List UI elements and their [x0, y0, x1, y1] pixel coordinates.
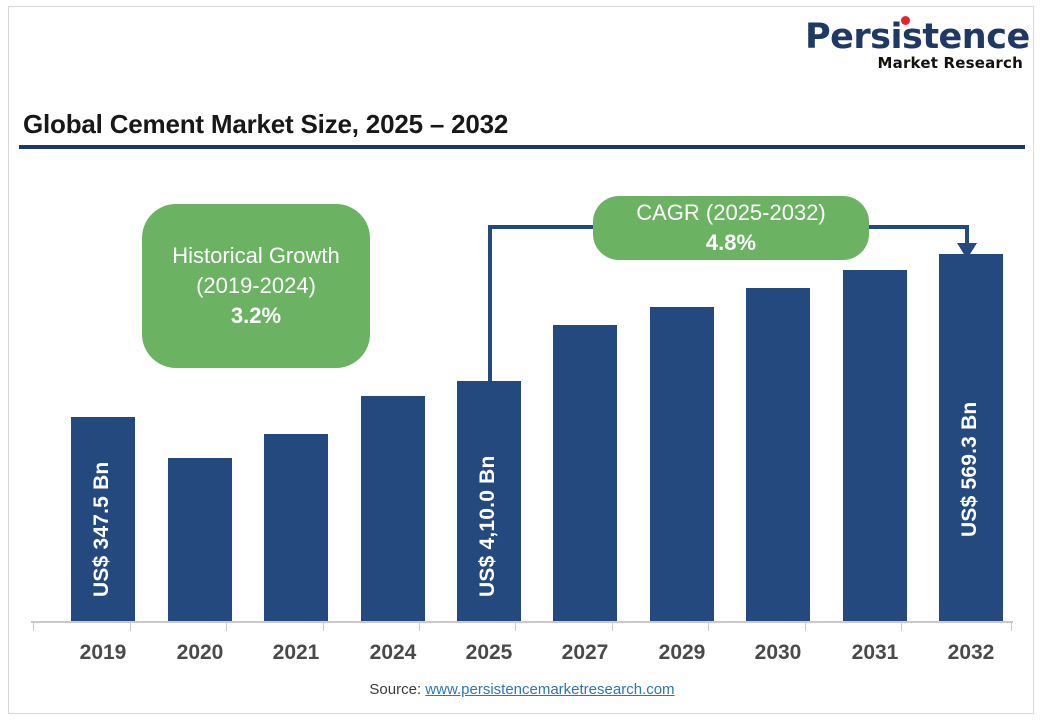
- cagr-connector-vertical-left: [488, 225, 492, 383]
- cagr-arrow-icon: [957, 243, 977, 259]
- cagr-value: 4.8%: [706, 228, 756, 258]
- bar-value-label-2032: US$ 569.3 Bn: [958, 402, 982, 537]
- bar-2027: [553, 325, 617, 623]
- x-tick-2032: [901, 621, 902, 631]
- x-axis-label-2031: 2031: [820, 641, 930, 665]
- bar-value-label-2025: US$ 4,10.0 Bn: [476, 456, 500, 598]
- bar-2030: [746, 288, 810, 623]
- x-axis-label-2025: 2025: [434, 641, 544, 665]
- source-note: Source: www.persistencemarketresearch.co…: [9, 681, 1035, 698]
- x-tick-2027: [515, 621, 516, 631]
- cagr-connector-horizontal-right: [865, 225, 969, 229]
- bar-chart: US$ 347.5 BnUS$ 4,10.0 BnUS$ 569.3 Bn 20…: [9, 7, 1035, 715]
- x-axis-label-2030: 2030: [723, 641, 833, 665]
- historical-growth-line1: Historical Growth: [172, 241, 339, 271]
- bar-2024: [361, 396, 425, 623]
- x-tick-2019: [33, 621, 34, 631]
- x-tick-2025: [419, 621, 420, 631]
- historical-growth-callout: Historical Growth (2019-2024) 3.2%: [142, 204, 370, 368]
- x-axis-label-2029: 2029: [627, 641, 737, 665]
- bar-2020: [168, 458, 232, 623]
- x-axis-label-2020: 2020: [145, 641, 255, 665]
- x-tick-2020: [130, 621, 131, 631]
- x-tick-2029: [612, 621, 613, 631]
- bar-2021: [264, 434, 328, 623]
- x-axis-label-2027: 2027: [530, 641, 640, 665]
- historical-growth-line2: (2019-2024): [196, 271, 316, 301]
- cagr-callout: CAGR (2025-2032) 4.8%: [593, 196, 869, 260]
- x-tick-2031: [805, 621, 806, 631]
- bar-value-label-2019: US$ 347.5 Bn: [90, 462, 114, 597]
- source-link[interactable]: www.persistencemarketresearch.com: [425, 681, 674, 698]
- x-axis-label-2024: 2024: [338, 641, 448, 665]
- bar-2029: [650, 307, 714, 623]
- x-tick-2030: [708, 621, 709, 631]
- cagr-connector-horizontal-left: [488, 225, 598, 229]
- historical-growth-value: 3.2%: [231, 301, 281, 331]
- x-axis-label-2019: 2019: [48, 641, 158, 665]
- chart-card: Persistence Market Research Global Cemen…: [8, 6, 1034, 714]
- x-axis-label-2032: 2032: [916, 641, 1026, 665]
- x-axis-label-2021: 2021: [241, 641, 351, 665]
- cagr-label: CAGR (2025-2032): [636, 198, 826, 228]
- x-tick-end: [1011, 621, 1012, 631]
- bar-2031: [843, 270, 907, 623]
- x-axis-line: [31, 621, 1013, 623]
- x-tick-2021: [226, 621, 227, 631]
- x-tick-2024: [323, 621, 324, 631]
- source-prefix: Source:: [369, 681, 425, 698]
